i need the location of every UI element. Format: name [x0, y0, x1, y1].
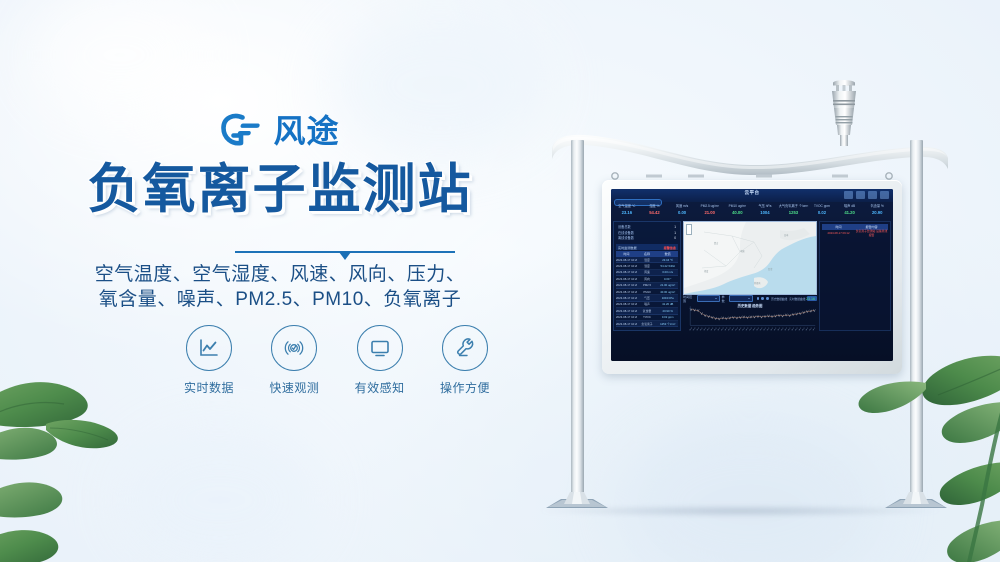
table-cell: 1253 个/cm³	[657, 322, 678, 326]
subtitle-line-2: 氧含量、噪声、PM2.5、PM10、负氧离子	[0, 287, 560, 312]
legend-historical: 历史数据曲线	[771, 297, 787, 301]
table-cell: 40.00 ug/m³	[657, 290, 678, 294]
plant-leaves-right-icon	[830, 355, 1000, 562]
alarm-badge[interactable]: 报警信息	[664, 245, 676, 250]
table-cell: 负氧离子	[637, 322, 658, 326]
table-cell: 41.20 dB	[657, 302, 678, 306]
kpi-value: 40.00	[724, 209, 752, 216]
table-cell: 2023-08-17 10:20	[616, 277, 637, 281]
chart-x-tick-label: 08-17	[781, 327, 785, 331]
table-cell: 温度	[637, 258, 658, 262]
alarm-column-header: 时间	[822, 225, 855, 229]
promo-banner: 风途 负氧离子监测站 空气温度、空气湿度、风速、风向、压力、 氧含量、噪声、PM…	[0, 0, 1000, 562]
subtitle-line-1: 空气温度、空气湿度、风速、风向、压力、	[0, 262, 560, 287]
kpi-bar: 空气温度 ℃23.16湿度 %54.42风速 m/s0.00PM2.5 ug/m…	[613, 203, 891, 220]
device-stat-rows: 设备总数1在线设备数1离线设备数0	[618, 225, 676, 242]
chart-title: 历史数据 趋势图	[683, 303, 817, 308]
alarm-table-row[interactable]: 2023-08-17 09:12负氧离子监测站 设备离线报警	[822, 230, 888, 235]
kpi-value: 1004	[751, 209, 779, 216]
feature-icon-circle	[357, 325, 403, 371]
chart-x-tick-label: 08-16	[760, 327, 764, 331]
page-title: 负氧离子监测站	[0, 163, 560, 216]
kpi-value: 20.90	[863, 209, 891, 216]
stat-value: 0	[674, 236, 676, 242]
table-cell: 54.42 %RH	[657, 264, 678, 268]
table-cell: 2023-08-17 10:20	[616, 315, 637, 319]
feature-label: 有效感知	[343, 379, 417, 396]
chart-x-tick-label: 08-17	[788, 327, 792, 331]
device-stat-row: 离线设备数0	[618, 236, 676, 242]
legend-realtime: 实时数据曲线	[789, 297, 805, 301]
chart-x-tick-label: 08-15	[742, 327, 746, 331]
table-cell: 0.02 ppm	[657, 315, 678, 319]
chart-x-tick-label: 08-10	[689, 327, 693, 331]
type-label: 参数	[722, 295, 728, 303]
table-cell: 2023-08-17 10:20	[616, 270, 637, 274]
table-cell: 0.00 °	[657, 277, 678, 281]
feature-icon-circle	[271, 325, 317, 371]
chart-x-tick-label: 08-17	[812, 327, 816, 331]
table-row[interactable]: 2023-08-17 10:20光照12735 lux	[616, 327, 678, 328]
chart-x-tick-label: 08-17	[795, 327, 799, 331]
feature-label: 快速观测	[257, 379, 331, 396]
hero-subtitle: 空气温度、空气湿度、风速、风向、压力、 氧含量、噪声、PM2.5、PM10、负氧…	[0, 262, 560, 312]
table-cell: 2023-08-17 10:20	[616, 302, 637, 306]
display-screen[interactable]: 云平台 空气温度 ℃23.16湿度 %54.42风速 m/s0.00PM2.5 …	[611, 189, 893, 361]
wrench-icon	[453, 336, 477, 360]
control-dot-icon[interactable]	[761, 297, 764, 300]
chart-x-tick-label: 08-13	[724, 327, 728, 331]
table-cell: 湿度	[637, 264, 658, 268]
chart-x-tick-label: 08-17	[791, 327, 795, 331]
chart-x-tick-label: 08-12	[714, 327, 718, 331]
feature-icon-circle	[186, 325, 232, 371]
chart-x-tick-label: 08-15	[749, 327, 753, 331]
feature-item-easy-operation[interactable]: 操作方便	[428, 325, 502, 396]
kpi-value: 0.00	[668, 209, 696, 216]
monitor-icon	[368, 336, 392, 360]
table-cell: 2023-08-17 10:20	[616, 309, 637, 313]
map-landmass: 蒙古中国 日本台湾 菲律宾印度	[684, 222, 816, 294]
chart-x-tick-label: 08-16	[756, 327, 760, 331]
kpi-value: 23.16	[613, 209, 641, 216]
table-cell: 0.00 m/s	[657, 270, 678, 274]
table-title: 实时监测数据	[618, 245, 637, 250]
svg-text:菲律宾: 菲律宾	[754, 281, 761, 285]
table-cell: 2023-08-17 10:20	[616, 258, 637, 262]
chart-current-value: 23.16	[806, 297, 815, 301]
chart-x-tick-label: 08-11	[700, 327, 704, 331]
table-cell: 2023-08-17 10:20	[616, 296, 637, 300]
control-dot-icon[interactable]	[757, 297, 760, 300]
chart-x-tick-label: 08-13	[728, 327, 732, 331]
header-icon[interactable]	[856, 191, 865, 199]
chart-x-tick-label: 08-17	[802, 327, 806, 331]
chart-x-tick-label: 08-12	[710, 327, 714, 331]
divider	[235, 248, 455, 260]
control-dot-icon[interactable]	[766, 297, 769, 300]
plant-leaves-left-icon	[0, 352, 184, 562]
dashboard-header-icons[interactable]	[844, 191, 889, 199]
chart-x-tick-label: 08-17	[763, 327, 767, 331]
china-map[interactable]: 蒙古中国 日本台湾 菲律宾印度	[683, 221, 817, 295]
kpi-value: 1253	[779, 209, 808, 216]
kpi-item: 大气负氧离子 个/cm³1253	[779, 203, 808, 220]
chart-controls: 时间范围 参数 历史数据曲线 实时数据曲线	[683, 295, 817, 302]
feature-label: 操作方便	[428, 379, 502, 396]
chart-x-tick-label: 08-17	[770, 327, 774, 331]
table-column-headers: 时间名称数值	[616, 251, 678, 257]
chart-x-tick-label: 08-15	[745, 327, 749, 331]
table-cell: 噪声	[637, 302, 658, 306]
map-and-chart-panel: 蒙古中国 日本台湾 菲律宾印度 时间范围 参数	[683, 221, 817, 331]
kpi-item: 湿度 %54.42	[641, 203, 669, 220]
kpi-value: 21.00	[696, 209, 724, 216]
table-cell: 2023-08-17 10:20	[616, 264, 637, 268]
line-chart-icon	[197, 336, 221, 360]
kpi-item: TVOC ppm0.02	[808, 203, 836, 220]
kpi-item: 风速 m/s0.00	[668, 203, 696, 220]
realtime-table-header: 实时监测数据 报警信息	[616, 244, 678, 250]
stat-label: 离线设备数	[618, 236, 634, 242]
kpi-value: 0.02	[808, 209, 836, 216]
radar-check-icon	[282, 336, 306, 360]
trend-chart: 历史数据 趋势图 23.16 08-1008-1008-1008-1108-11…	[683, 303, 817, 331]
chart-x-tick-label: 08-14	[731, 327, 735, 331]
brand-logo: 风途	[0, 112, 560, 150]
chart-x-tick-label: 08-17	[767, 327, 771, 331]
chart-x-tick-label: 08-13	[721, 327, 725, 331]
feature-list: 实时数据 快速观测	[172, 325, 502, 396]
range-select[interactable]	[697, 295, 720, 302]
chart-x-tick-label: 08-17	[798, 327, 802, 331]
map-zoom-control-icon[interactable]	[686, 224, 692, 235]
realtime-table-body[interactable]: 2023-08-17 10:20温度23.16 ℃2023-08-17 10:2…	[616, 257, 678, 328]
chart-x-tick-label: 08-11	[707, 327, 711, 331]
alarm-cell: 2023-08-17 09:12	[822, 231, 855, 235]
table-cell: 2023-08-17 10:20	[616, 290, 637, 294]
table-cell: PM10	[637, 290, 658, 294]
table-cell: 风速	[637, 270, 658, 274]
dashboard-body: 设备总数1在线设备数1离线设备数0 实时监测数据 报警信息 时间名称数值 202…	[613, 221, 891, 331]
table-cell: 20.90 %	[657, 309, 678, 313]
kpi-item: 空气温度 ℃23.16	[613, 203, 641, 220]
table-column-header: 时间	[616, 252, 637, 256]
table-cell: PM2.5	[637, 283, 658, 287]
chart-x-tick-label: 08-17	[805, 327, 809, 331]
feature-item-fast-observation[interactable]: 快速观测	[257, 325, 331, 396]
kpi-value: 54.42	[641, 209, 669, 216]
alarm-cell: 负氧离子监测站 设备离线报警	[855, 229, 888, 237]
device-stats-panel: 设备总数1在线设备数1离线设备数0 实时监测数据 报警信息 时间名称数值 202…	[613, 221, 681, 331]
table-cell: 23.16 ℃	[657, 258, 678, 262]
svg-text:中国: 中国	[740, 249, 744, 253]
kpi-item: 氧含量 %20.90	[863, 203, 891, 220]
table-cell: 2023-08-17 10:20	[616, 283, 637, 287]
chart-x-tick-label: 08-11	[703, 327, 707, 331]
chart-x-tick-label: 08-17	[774, 327, 778, 331]
alarm-panel: 时间报警内容 2023-08-17 09:12负氧离子监测站 设备离线报警	[819, 221, 891, 331]
kpi-value: 41.20	[836, 209, 864, 216]
kpi-item: 气压 hPa1004	[751, 203, 779, 220]
table-cell: 1004 hPa	[657, 296, 678, 300]
table-cell: 风向	[637, 277, 658, 281]
feature-item-effective-sensing[interactable]: 有效感知	[343, 325, 417, 396]
brand-name: 风途	[273, 115, 339, 147]
kpi-item: 噪声 dB41.20	[836, 203, 864, 220]
chart-line-series	[691, 310, 814, 319]
type-select[interactable]	[729, 295, 752, 302]
table-cell: 气压	[637, 296, 658, 300]
table-cell: 21.00 ug/m³	[657, 283, 678, 287]
table-column-header: 名称	[637, 252, 658, 256]
chart-x-tick-label: 08-17	[777, 327, 781, 331]
chart-x-tick-label: 08-14	[735, 327, 739, 331]
chart-x-tick-label: 08-17	[784, 327, 788, 331]
display-bezel: 云平台 空气温度 ℃23.16湿度 %54.42风速 m/s0.00PM2.5 …	[602, 180, 902, 374]
feature-icon-circle	[442, 325, 488, 371]
kpi-item: PM2.5 ug/m³21.00	[696, 203, 724, 220]
chart-x-tick-label: 08-10	[693, 327, 697, 331]
header-icon[interactable]	[868, 191, 877, 199]
support-post-left	[571, 140, 584, 502]
table-cell: TVOC	[637, 315, 658, 319]
dashboard: 云平台 空气温度 ℃23.16湿度 %54.42风速 m/s0.00PM2.5 …	[611, 189, 893, 361]
table-column-header: 数值	[657, 252, 678, 256]
chart-x-tick-label: 08-14	[738, 327, 742, 331]
chart-x-tick-label: 08-10	[696, 327, 700, 331]
kpi-item: PM10 ug/m³40.00	[724, 203, 752, 220]
chart-x-tick-label: 08-17	[809, 327, 813, 331]
chart-x-tick-label: 08-12	[717, 327, 721, 331]
header-icon[interactable]	[880, 191, 889, 199]
svg-text:台湾: 台湾	[768, 267, 773, 271]
table-cell: 2023-08-17 10:20	[616, 322, 637, 326]
fengtu-wind-g-logo-icon	[220, 112, 266, 150]
range-label: 时间范围	[683, 295, 695, 303]
chart-x-tick-label: 08-16	[753, 327, 757, 331]
header-icon[interactable]	[844, 191, 853, 199]
table-cell: 氧含量	[637, 309, 658, 313]
